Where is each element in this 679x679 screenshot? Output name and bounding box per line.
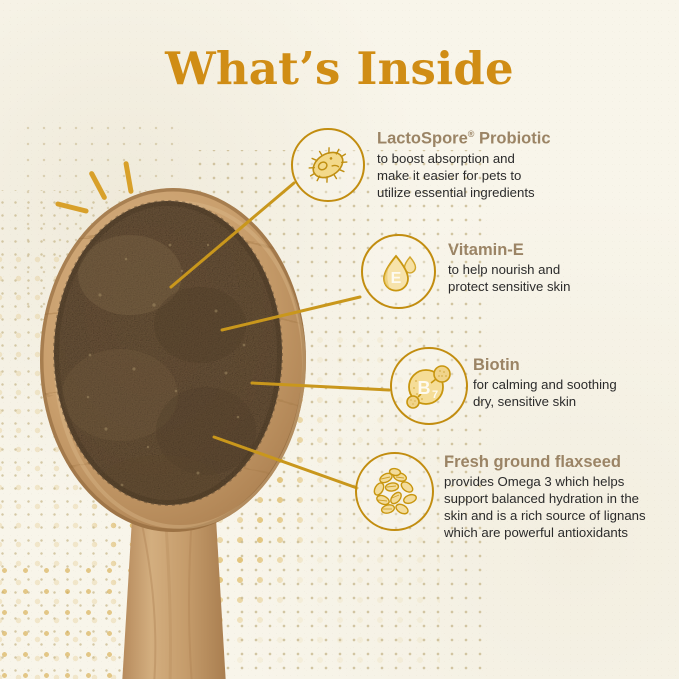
lactospore-icon-circle — [291, 128, 365, 202]
flaxseed-heading: Fresh ground flaxseed — [444, 453, 679, 472]
callout-biotin: B 7 Biotin for calming and soothing dry,… — [390, 347, 675, 427]
wooden-spoon-illustration — [30, 185, 330, 679]
vitamin-e-icon-circle: E — [361, 234, 436, 309]
lactospore-heading: LactoSpore® Probiotic — [377, 129, 667, 149]
vitamin-e-heading: Vitamin-E — [448, 241, 663, 260]
vitamin-e-body: to help nourish and protect sensitive sk… — [448, 262, 663, 296]
biotin-heading: Biotin — [473, 356, 673, 375]
callout-lactospore: LactoSpore® Probiotic to boost absorptio… — [291, 128, 671, 208]
lactospore-text-block: LactoSpore® Probiotic to boost absorptio… — [377, 129, 667, 202]
probiotic-bacteria-icon — [302, 139, 354, 191]
vitamin-e-letter: E — [390, 270, 401, 287]
page-title: What’s Inside — [0, 42, 679, 95]
flaxseed-body: provides Omega 3 which helps support bal… — [444, 474, 679, 542]
vitamin-e-droplet-icon: E — [374, 247, 424, 297]
callout-flaxseed: Fresh ground flaxseed provides Omega 3 w… — [355, 452, 675, 552]
biotin-subscript: 7 — [432, 389, 438, 401]
biotin-letter: B — [418, 378, 431, 398]
infographic-canvas: LactoSpore® Probiotic to boost absorptio… — [0, 0, 679, 679]
lactospore-body: to boost absorption and make it easier f… — [377, 151, 667, 202]
callout-vitamin-e: E Vitamin-E to help nourish and protect … — [361, 234, 671, 314]
biotin-icon-circle: B 7 — [390, 347, 468, 425]
biotin-text-block: Biotin for calming and soothing dry, sen… — [473, 356, 673, 411]
biotin-body: for calming and soothing dry, sensitive … — [473, 377, 673, 411]
flaxseed-cluster-icon — [366, 463, 424, 521]
vitamin-e-text-block: Vitamin-E to help nourish and protect se… — [448, 241, 663, 296]
biotin-b7-molecule-icon: B 7 — [400, 357, 458, 415]
flaxseed-icon-circle — [355, 452, 434, 531]
flaxseed-text-block: Fresh ground flaxseed provides Omega 3 w… — [444, 453, 679, 542]
